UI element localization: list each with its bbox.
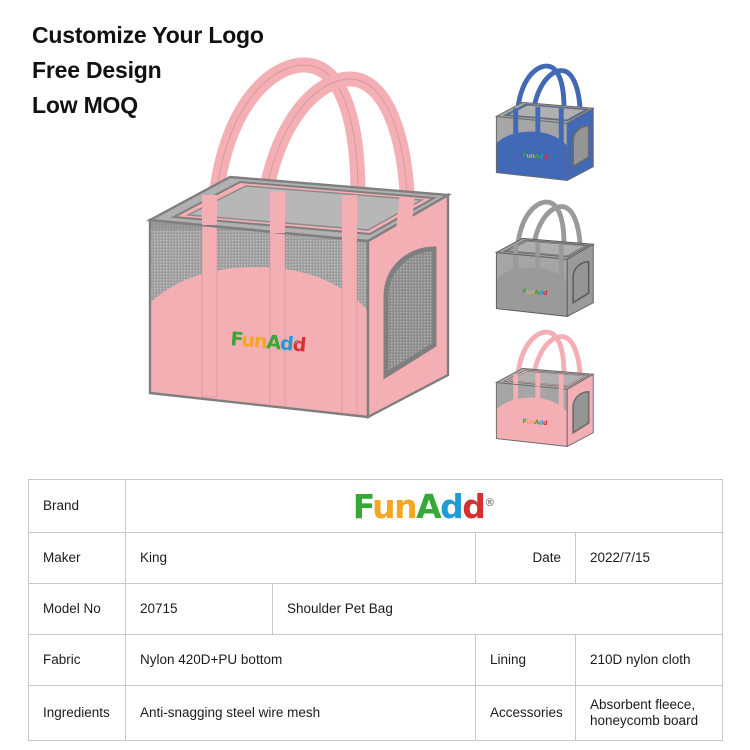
table-row-maker: Maker King Date 2022/7/15 xyxy=(29,533,723,584)
row-label-ingredients: Ingredients xyxy=(29,686,126,741)
row-label-model-no: Model No xyxy=(29,584,126,635)
row-value-fabric: Nylon 420D+PU bottom xyxy=(126,635,476,686)
wordmark-letter-d1: d xyxy=(440,487,462,526)
variant-thumbnail-blue[interactable]: FunAdd xyxy=(486,52,616,197)
table-row-fabric: Fabric Nylon 420D+PU bottom Lining 210D … xyxy=(29,635,723,686)
headline-line-3: Low MOQ xyxy=(32,88,462,123)
row-label-fabric: Fabric xyxy=(29,635,126,686)
row-value-lining: 210D nylon cloth xyxy=(576,635,723,686)
gray-variant-illustration: FunAdd xyxy=(486,188,616,333)
wordmark-letter-f: F xyxy=(353,487,372,526)
wordmark-letter-u: u xyxy=(372,487,394,526)
row-value-maker: King xyxy=(126,533,476,584)
row-value-date: 2022/7/15 xyxy=(576,533,723,584)
headline-block: Customize Your Logo Free Design Low MOQ xyxy=(32,18,462,123)
headline-line-2: Free Design xyxy=(32,53,462,88)
row-value-model-no: 20715 xyxy=(126,584,273,635)
row-value-accessories: Absorbent fleece, honeycomb board xyxy=(576,686,723,741)
row-label-lining: Lining xyxy=(476,635,576,686)
brand-logo-cell: FunAdd® xyxy=(126,480,723,533)
svg-text:®: ® xyxy=(293,339,301,348)
wordmark-letter-a: A xyxy=(416,487,440,526)
row-label-brand: Brand xyxy=(29,480,126,533)
blue-variant-illustration: FunAdd xyxy=(486,52,616,197)
table-row-brand: Brand FunAdd® xyxy=(29,480,723,533)
row-label-accessories: Accessories xyxy=(476,686,576,741)
registered-trademark-icon: ® xyxy=(484,496,495,509)
headline-line-1: Customize Your Logo xyxy=(32,18,462,53)
pink-variant-illustration: FunAdd xyxy=(486,318,616,463)
row-label-maker: Maker xyxy=(29,533,126,584)
row-value-ingredients: Anti-snagging steel wire mesh xyxy=(126,686,476,741)
table-row-ingredients: Ingredients Anti-snagging steel wire mes… xyxy=(29,686,723,741)
variant-thumbnail-pink[interactable]: FunAdd xyxy=(486,318,616,463)
wordmark-letter-d2: d xyxy=(462,487,484,526)
wordmark-letter-n: n xyxy=(394,487,416,526)
table-row-model-no: Model No 20715 Shoulder Pet Bag xyxy=(29,584,723,635)
funadd-wordmark: FunAdd® xyxy=(353,490,496,523)
row-value-product-name: Shoulder Pet Bag xyxy=(273,584,723,635)
variant-thumbnail-gray[interactable]: FunAdd xyxy=(486,188,616,333)
row-label-date: Date xyxy=(476,533,576,584)
product-spec-table: Brand FunAdd® Maker King Date 2022/7/15 … xyxy=(28,479,723,741)
